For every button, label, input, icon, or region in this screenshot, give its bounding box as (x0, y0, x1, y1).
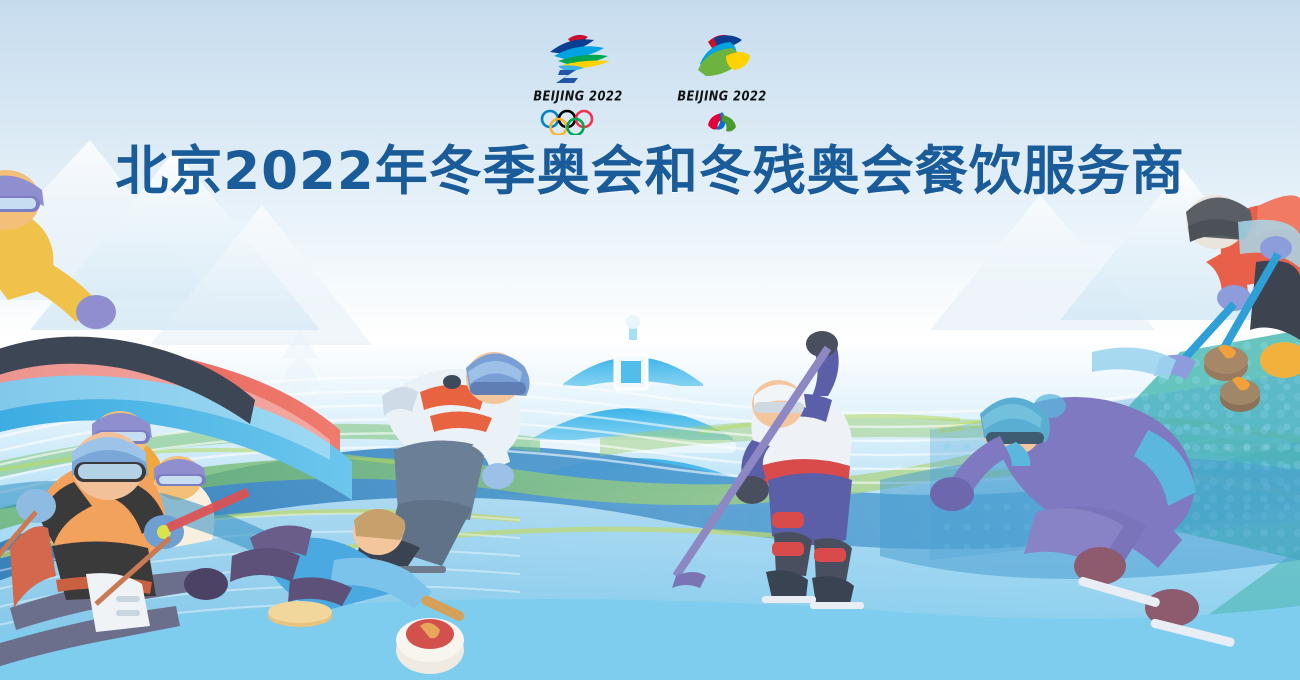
paralympic-wordmark: BEIJING 2022 (677, 88, 766, 105)
curler-sweeping (1092, 195, 1300, 381)
curling-stone-secondary (1220, 377, 1260, 412)
curler-delivering-stone (184, 509, 466, 674)
temple-of-heaven (496, 315, 770, 556)
olympic-rings-icon (536, 109, 620, 135)
speed-skater (930, 394, 1235, 648)
ice-hockey-player (672, 331, 864, 609)
olympic-emblem-icon (534, 30, 622, 86)
paralympic-emblem-icon (678, 30, 766, 86)
logo-row: BEIJING 2022 (0, 30, 1300, 135)
short-track-speed-skater (300, 352, 530, 593)
beijing-2022-paralympic-logo: BEIJING 2022 (672, 30, 772, 135)
page-title: 北京2022年冬季奥会和冬残奥会餐饮服务商 (0, 142, 1300, 202)
beijing-2022-olympic-logo: BEIJING 2022 (528, 30, 628, 135)
paralympic-agitos-icon (692, 109, 752, 135)
bobsleigh-team (0, 170, 352, 586)
alpine-skier (0, 432, 248, 668)
beijing-2022-catering-banner: BEIJING 2022 (0, 0, 1300, 680)
olympic-wordmark: BEIJING 2022 (533, 88, 622, 105)
